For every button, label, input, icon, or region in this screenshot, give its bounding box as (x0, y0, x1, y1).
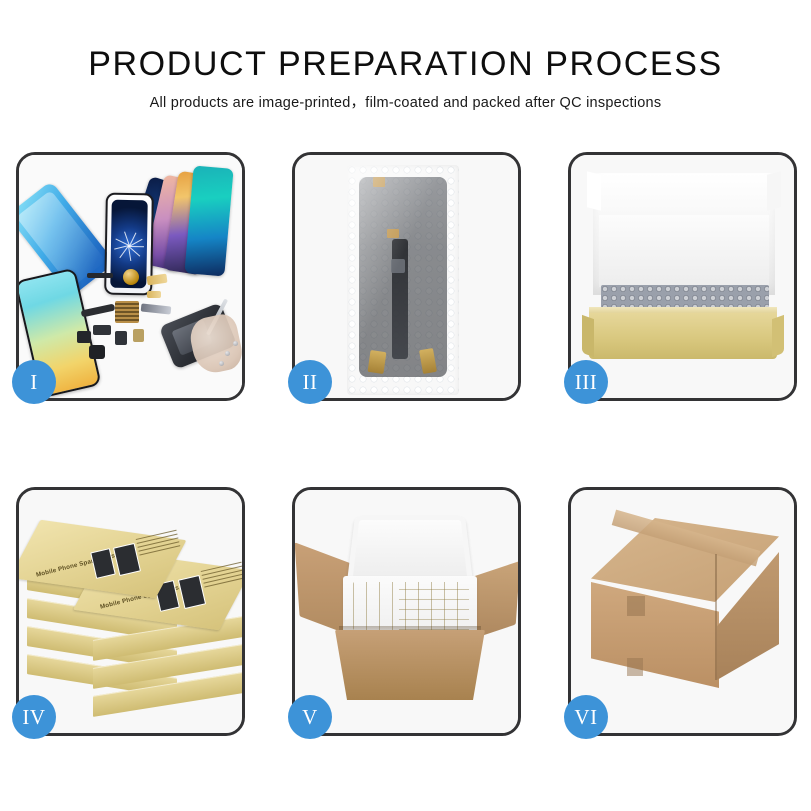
connector-4-icon (115, 331, 127, 345)
step-badge-2: II (288, 360, 332, 404)
bubble-wrapped-screen-image (347, 165, 459, 395)
foam-sheet-icon (599, 215, 769, 287)
step-4-image: Mobile Phone Spare Parts Mobile Phone Sp… (19, 490, 242, 733)
flex-cable-2-icon (147, 291, 161, 298)
product-preparation-process-page: PRODUCT PREPARATION PROCESS All products… (0, 0, 811, 811)
carton-front-icon (335, 630, 485, 700)
gold-box-base-icon (589, 313, 777, 359)
step-badge-4: IV (12, 695, 56, 739)
process-step-panel-3: III (568, 152, 797, 401)
speaker-coil-icon (123, 269, 139, 285)
screw-icon (233, 341, 238, 346)
step-1-image (19, 155, 242, 398)
earpiece-speaker-icon (87, 273, 113, 278)
process-step-panel-2: II (292, 152, 521, 401)
carton-tab-2-icon (627, 658, 643, 676)
page-header: PRODUCT PREPARATION PROCESS All products… (0, 0, 811, 113)
connector-2-icon (93, 325, 111, 335)
step-badge-6: VI (564, 695, 608, 739)
process-step-panel-4: Mobile Phone Spare Parts Mobile Phone Sp… (16, 487, 245, 736)
process-step-panel-5: V (292, 487, 521, 736)
phone-parts-collage-image (19, 155, 242, 398)
connector-1-icon (81, 304, 116, 318)
step-badge-5: V (288, 695, 332, 739)
process-steps-grid: I II (16, 152, 795, 736)
screw-icon (219, 361, 224, 366)
step-6-image (571, 490, 794, 733)
page-subtitle: All products are image-printed，film-coat… (0, 93, 811, 113)
flex-cable-3-icon (141, 303, 172, 314)
page-title: PRODUCT PREPARATION PROCESS (0, 44, 811, 84)
phone-fan-4-icon (184, 165, 233, 276)
step-2-image (295, 155, 518, 398)
process-step-panel-6: VI (568, 487, 797, 736)
step-badge-1: I (12, 360, 56, 404)
stacked-box-lid: Mobile Phone Spare Parts (25, 530, 171, 588)
carton-tab-1-icon (627, 596, 645, 616)
process-step-panel-1: I (16, 152, 245, 401)
step-3-image (571, 155, 794, 398)
step-5-image (295, 490, 518, 733)
crack-pattern-icon (114, 230, 145, 261)
packed-gold-boxes-row-2-icon (399, 582, 469, 630)
flex-cable-1-icon (146, 274, 167, 286)
chip-grid-icon (115, 301, 139, 323)
step-badge-3: III (564, 360, 608, 404)
plastic-sheen-overlay (347, 165, 459, 395)
screw-icon (225, 351, 230, 356)
connector-3-icon (77, 331, 91, 343)
stacked-boxes-image: Mobile Phone Spare Parts Mobile Phone Sp… (23, 506, 242, 718)
camera-module-icon (89, 345, 105, 359)
battery-connector-icon (133, 329, 144, 342)
